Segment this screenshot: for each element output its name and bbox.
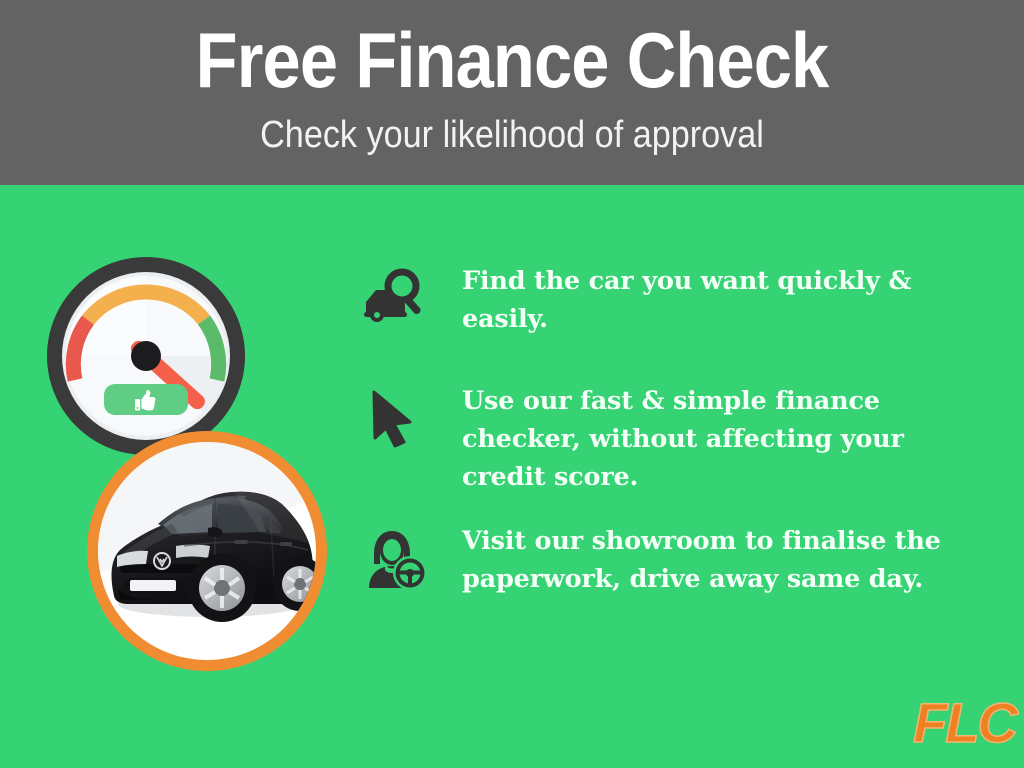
feature-text: Find the car you want quickly & easily. [432,262,978,338]
thumbs-up-badge [104,384,188,415]
header-banner: Free Finance Check Check your likelihood… [0,0,1024,185]
page-title: Free Finance Check [61,16,962,104]
page-subtitle: Check your likelihood of approval [51,112,973,158]
car-svg [84,428,330,674]
free-finance-check-poster: Free Finance Check Check your likelihood… [0,0,1024,768]
car-photo-circle [84,428,330,674]
driver-steering-wheel-icon [358,522,432,604]
mouse-cursor-icon [358,382,432,464]
feature-text: Visit our showroom to finalise the paper… [432,522,978,598]
feature-row: Use our fast & simple finance checker, w… [358,382,978,496]
flc-logo-text: FLC [826,694,1016,752]
feature-row: Find the car you want quickly & easily. [358,262,978,344]
flc-logo: FLC [826,694,1016,752]
feature-text: Use our fast & simple finance checker, w… [432,382,978,496]
feature-row: Visit our showroom to finalise the paper… [358,522,978,604]
car-search-icon [358,262,432,344]
